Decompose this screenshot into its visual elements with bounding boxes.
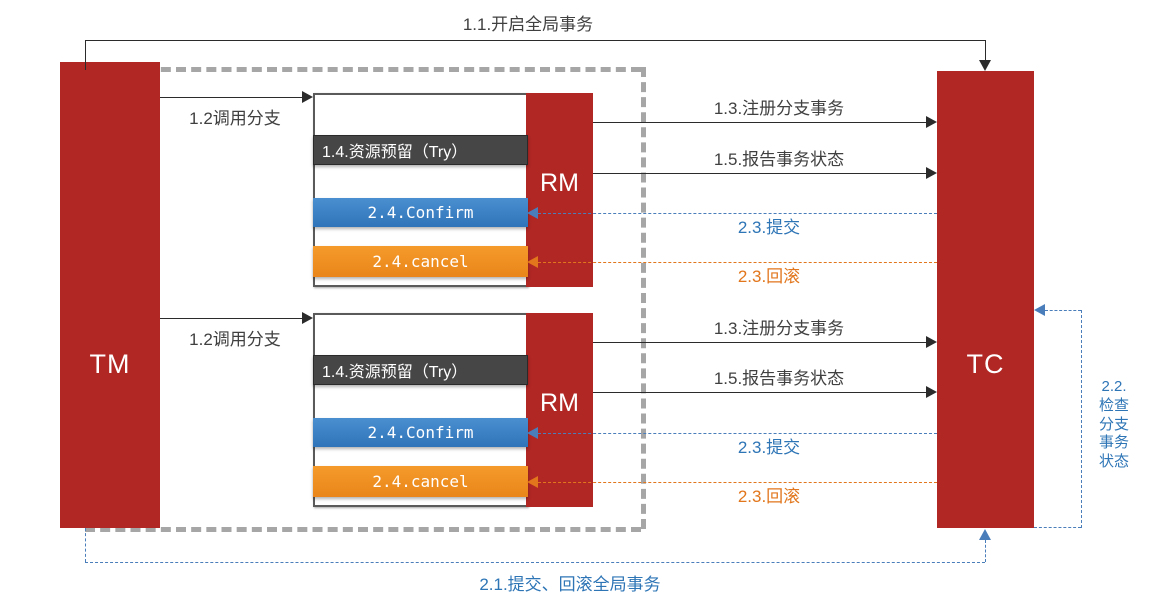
begin-tx-line-up — [85, 40, 86, 70]
call-branch-2-line — [160, 318, 303, 319]
rollback-2-line — [538, 482, 937, 483]
label-call-branch-1: 1.2调用分支 — [189, 109, 281, 129]
register-branch-2-arrowhead — [926, 336, 937, 348]
group-boundary-right — [641, 67, 646, 529]
report-status-1-line — [593, 173, 932, 174]
rm-actor-2-label: RM — [526, 391, 593, 416]
begin-tx-line-across — [85, 40, 985, 41]
register-branch-1-arrowhead — [926, 116, 937, 128]
rm-1-confirm-bar[interactable]: 2.4.Confirm — [313, 198, 528, 227]
global-commit-arrowhead — [979, 529, 991, 540]
group-boundary-bottom — [85, 527, 641, 532]
report-status-1-arrowhead — [926, 167, 937, 179]
register-branch-1-line — [593, 122, 932, 123]
commit-2-line — [538, 433, 937, 434]
label-commit-2: 2.3.提交 — [738, 438, 800, 458]
actor-tm[interactable]: TM — [60, 62, 160, 528]
actor-tm-label: TM — [60, 351, 160, 378]
label-rollback-1: 2.3.回滚 — [738, 267, 800, 287]
global-commit-line-up — [985, 540, 986, 562]
actor-tc-label: TC — [937, 351, 1034, 378]
rm-1-try-bar[interactable]: 1.4.资源预留（Try） — [313, 135, 528, 165]
label-report-status-1: 1.5.报告事务状态 — [714, 150, 844, 170]
label-global-commit-rollback: 2.1.提交、回滚全局事务 — [479, 575, 660, 595]
global-commit-line-down — [85, 528, 86, 562]
check-status-line-right — [1081, 310, 1082, 528]
rm-2-cancel-bar[interactable]: 2.4.cancel — [313, 466, 528, 497]
label-register-branch-2: 1.3.注册分支事务 — [714, 319, 844, 339]
commit-2-arrowhead — [527, 427, 538, 439]
rm-2-try-bar[interactable]: 1.4.资源预留（Try） — [313, 355, 528, 385]
call-branch-1-line — [160, 97, 303, 98]
register-branch-2-line — [593, 342, 932, 343]
label-commit-1: 2.3.提交 — [738, 218, 800, 238]
check-status-arrowhead — [1034, 304, 1045, 316]
call-branch-2-arrowhead — [302, 312, 313, 324]
label-register-branch-1: 1.3.注册分支事务 — [714, 99, 844, 119]
label-check-branch-status: 2.2.检查分支事务状态 — [1098, 378, 1130, 472]
rollback-1-line — [538, 262, 937, 263]
report-status-2-arrowhead — [926, 386, 937, 398]
label-rollback-2: 2.3.回滚 — [738, 487, 800, 507]
check-status-line-top — [1045, 310, 1081, 311]
begin-tx-arrowhead — [979, 60, 991, 71]
label-call-branch-2: 1.2调用分支 — [189, 330, 281, 350]
rm-block-2: RM 1.4.资源预留（Try） 2.4.Confirm 2.4.cancel — [313, 313, 593, 507]
check-status-line-bottom — [1034, 527, 1081, 528]
global-commit-line-across — [85, 562, 985, 563]
rm-block-1: RM 1.4.资源预留（Try） 2.4.Confirm 2.4.cancel — [313, 93, 593, 287]
call-branch-1-arrowhead — [302, 91, 313, 103]
commit-1-line — [538, 213, 937, 214]
rollback-1-arrowhead — [527, 256, 538, 268]
rollback-2-arrowhead — [527, 476, 538, 488]
group-boundary-top — [85, 67, 641, 72]
rm-actor-1-label: RM — [526, 171, 593, 196]
diagram-canvas: TM TC 1.1.开启全局事务 RM 1.4.资源预留（Try） 2.4.Co… — [0, 0, 1168, 608]
begin-tx-line-down — [985, 40, 986, 62]
label-begin-global-tx: 1.1.开启全局事务 — [463, 15, 593, 35]
commit-1-arrowhead — [527, 207, 538, 219]
actor-tc[interactable]: TC — [937, 71, 1034, 528]
report-status-2-line — [593, 392, 932, 393]
rm-2-confirm-bar[interactable]: 2.4.Confirm — [313, 418, 528, 447]
label-report-status-2: 1.5.报告事务状态 — [714, 369, 844, 389]
rm-1-cancel-bar[interactable]: 2.4.cancel — [313, 246, 528, 277]
